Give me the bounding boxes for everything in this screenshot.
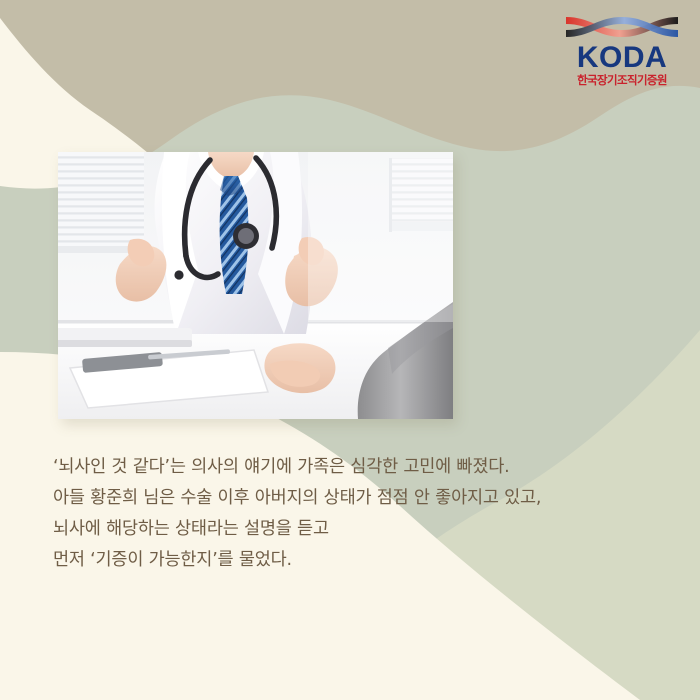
caption-line-3: 뇌사에 해당하는 상태라는 설명을 듣고	[53, 514, 663, 545]
logo-subtitle: 한국장기조직기증원	[556, 74, 688, 87]
caption-line-4: 먼저 ‘기증이 가능한지’를 물었다.	[53, 545, 663, 576]
caption-line-2: 아들 황준희 님은 수술 이후 아버지의 상태가 점점 안 좋아지고 있고,	[53, 483, 663, 514]
keyboard	[58, 328, 192, 347]
crossing-ribbons-icon	[564, 14, 680, 44]
story-caption: ‘뇌사인 것 같다’는 의사의 얘기에 가족은 심각한 고민에 빠졌다. 아들 …	[53, 452, 663, 576]
doctor-consultation-photo	[58, 152, 453, 419]
koda-logo[interactable]: KODA 한국장기조직기증원	[556, 14, 688, 88]
caption-line-1: ‘뇌사인 것 같다’는 의사의 얘기에 가족은 심각한 고민에 빠졌다.	[53, 452, 663, 483]
card-root: KODA 한국장기조직기증원	[0, 0, 700, 700]
logo-wordmark: KODA	[556, 43, 688, 73]
window-blinds-left-icon	[58, 152, 144, 248]
